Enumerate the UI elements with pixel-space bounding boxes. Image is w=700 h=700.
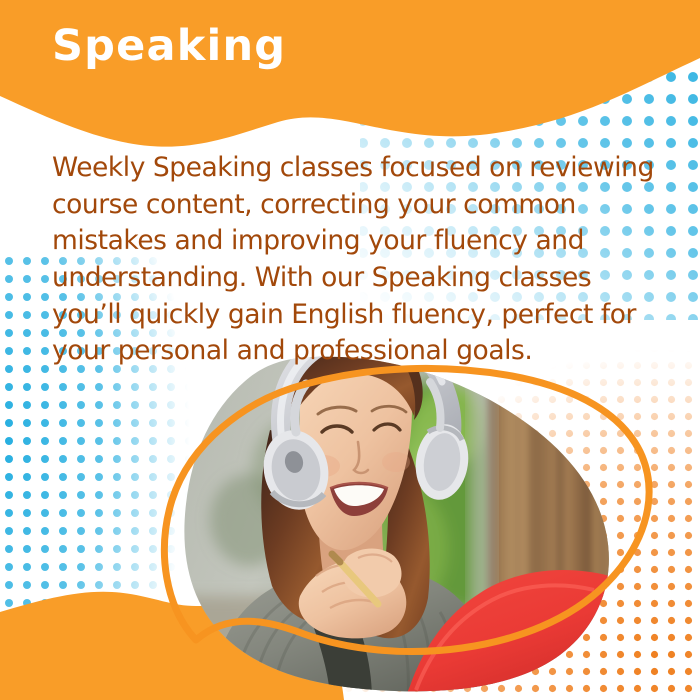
poster-canvas: Speaking Weekly Speaking classes focused… (0, 0, 700, 700)
body-paragraph: Weekly Speaking classes focused on revie… (52, 150, 677, 370)
page-title: Speaking (52, 25, 286, 68)
